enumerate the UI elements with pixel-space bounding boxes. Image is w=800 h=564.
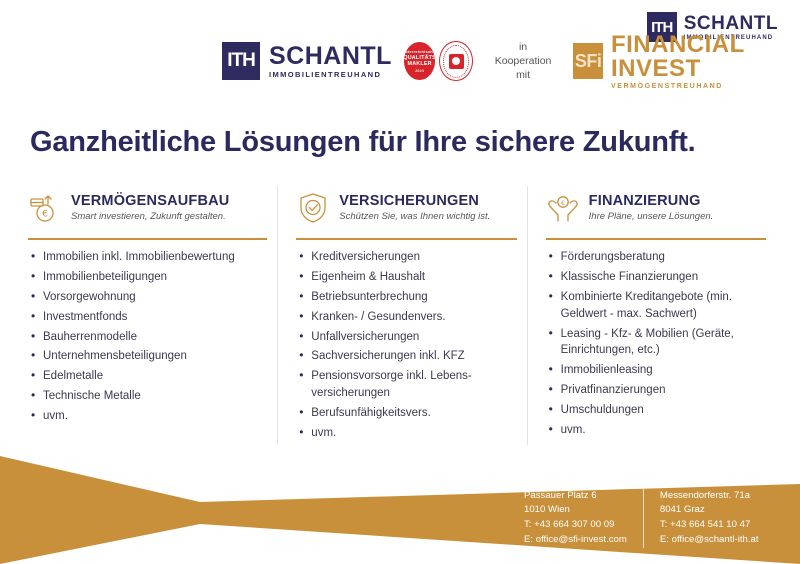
list-item: Sachversicherungen inkl. KFZ [311,348,516,365]
column-tagline: Schützen Sie, was Ihnen wichtig ist. [339,212,490,223]
service-list: Kreditversicherungen Eigenheim & Haushal… [296,249,516,442]
coins-euro-growth-icon: € [28,191,62,225]
service-list: Immobilien inkl. Immobilienbewertung Imm… [28,249,267,425]
qualitaetsmakler-seal-icon: Österreichischer QUALITÄTS MAKLER 2024 [404,42,435,80]
column-title: VERMÖGENSAUFBAU [71,193,229,209]
list-item: Kranken- / Gesundenvers. [311,309,516,326]
list-item: Unfallversicherungen [311,329,516,346]
service-columns: € VERMÖGENSAUFBAU Smart investieren, Zuk… [28,186,776,445]
logo-sfi-financial-invest: SFi FINANCIAL INVEST VERMÖGENSTREUHAND [573,33,800,90]
column-header: VERSICHERUNGEN Schützen Sie, was Ihnen w… [296,186,516,230]
header-logo-bar: ITH SCHANTL IMMOBILIENTREUHAND ITH SCHAN… [0,0,800,108]
shield-check-icon [296,191,330,225]
footer-contacts: Office Wien: Passauer Platz 6 1010 Wien … [524,474,759,548]
office-city: 1010 Wien [524,503,627,518]
list-item: Leasing - Kfz- & Mobilien (Geräte, Einri… [561,326,766,360]
office-wien-block: Office Wien: Passauer Platz 6 1010 Wien … [524,474,643,548]
office-city: 8041 Graz [660,503,759,518]
seal-line-4: 2024 [415,69,424,73]
list-item: Immobilien inkl. Immobilienbewertung [43,249,267,266]
office-street: Messendorferstr. 71a [660,489,759,504]
list-item: Berufsunfähigkeitsvers. [311,405,516,422]
list-item: Privatfinanzierungen [561,382,766,399]
schantl-wordmark: SCHANTL [269,44,392,69]
column-vermoegensaufbau: € VERMÖGENSAUFBAU Smart investieren, Zuk… [28,186,277,445]
list-item: Betriebsunterbrechung [311,289,516,306]
list-item: Umschuldungen [561,402,766,419]
svg-text:€: € [42,210,48,220]
gold-divider [296,238,516,240]
sfi-monogram-icon: SFi [573,43,603,79]
crest-shield-icon [449,54,464,69]
austrian-crest-seal-icon [439,41,472,81]
cooperation-line-1: in [495,40,552,54]
office-email[interactable]: E: office@sfi-invest.com [524,533,627,548]
column-header: € FINANZIERUNG Ihre Pläne, unsere Lösung… [546,186,766,230]
list-item: Pensionsvorsorge inkl. Lebens-versicheru… [311,368,516,402]
seal-line-1: Österreichischer [404,49,435,54]
column-versicherungen: VERSICHERUNGEN Schützen Sie, was Ihnen w… [277,186,526,445]
seal-line-2: QUALITÄTS [404,55,435,62]
office-phone[interactable]: T: +43 664 541 10 47 [660,518,759,533]
office-name: Office Graz: [660,474,759,489]
column-finanzierung: € FINANZIERUNG Ihre Pläne, unsere Lösung… [527,186,776,445]
list-item: uvm. [43,408,267,425]
cooperation-line-3: mit [495,68,552,82]
svg-text:€: € [561,200,565,207]
financial-invest-tagline: VERMÖGENSTREUHAND [611,83,800,90]
page-headline: Ganzheitliche Lösungen für Ihre sichere … [30,126,696,159]
list-item: Immobilienbeteiligungen [43,269,267,286]
office-email[interactable]: E: office@schantl-ith.at [660,533,759,548]
list-item: Technische Metalle [43,388,267,405]
hands-holding-coin-icon: € [546,191,580,225]
list-item: Kombinierte Kreditangebote (min. Geldwer… [561,289,766,323]
list-item: Klassische Finanzierungen [561,269,766,286]
list-item: Förderungsberatung [561,249,766,266]
column-title: VERSICHERUNGEN [339,193,490,209]
schantl-tagline: IMMOBILIENTREUHAND [269,71,392,79]
logo-schantl-primary: ITH SCHANTL IMMOBILIENTREUHAND [222,42,392,80]
financial-invest-wordmark: FINANCIAL INVEST [611,33,800,81]
column-tagline: Ihre Pläne, unsere Lösungen. [589,212,714,223]
list-item: Bauherrenmodelle [43,329,267,346]
office-phone[interactable]: T: +43 664 307 00 09 [524,518,627,533]
column-header: € VERMÖGENSAUFBAU Smart investieren, Zuk… [28,186,267,230]
schantl-wordmark: SCHANTL [684,14,778,33]
service-list: Förderungsberatung Klassische Finanzieru… [546,249,766,439]
list-item: Investmentfonds [43,309,267,326]
list-item: Kreditversicherungen [311,249,516,266]
office-street: Passauer Platz 6 [524,489,627,504]
list-item: Unternehmensbeteiligungen [43,348,267,365]
cooperation-line-2: Kooperation [495,54,552,68]
office-name: Office Wien: [524,474,627,489]
gold-divider [546,238,766,240]
ith-monogram-icon: ITH [222,42,260,80]
office-graz-block: Office Graz: Messendorferstr. 71a 8041 G… [643,474,759,548]
list-item: Edelmetalle [43,368,267,385]
list-item: Eigenheim & Haushalt [311,269,516,286]
list-item: Immobilienleasing [561,362,766,379]
column-title: FINANZIERUNG [589,193,714,209]
gold-divider [28,238,267,240]
cooperation-label: in Kooperation mit [495,40,552,83]
column-tagline: Smart investieren, Zukunft gestalten. [71,212,229,223]
seal-line-3: MAKLER [408,61,432,68]
list-item: uvm. [561,422,766,439]
logo-row: ITH SCHANTL IMMOBILIENTREUHAND Österreic… [0,38,800,84]
list-item: Vorsorgewohnung [43,289,267,306]
